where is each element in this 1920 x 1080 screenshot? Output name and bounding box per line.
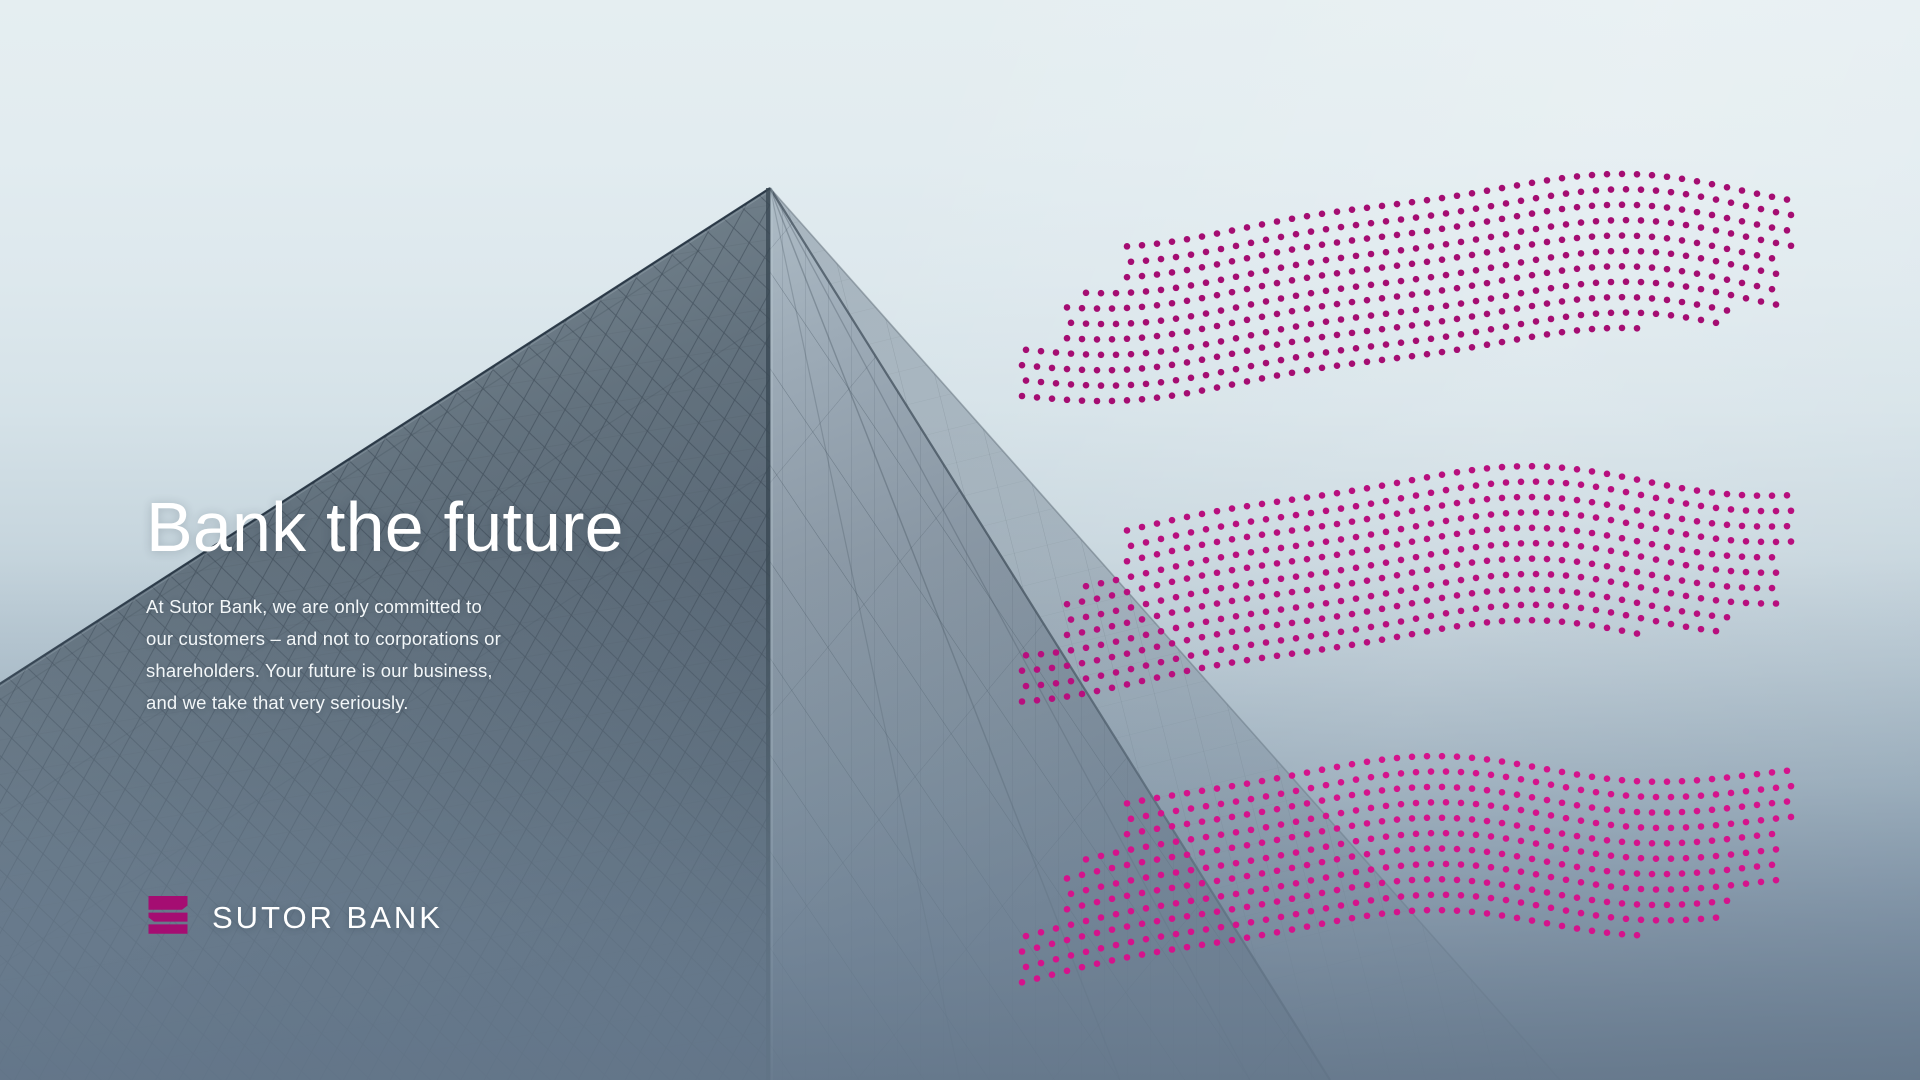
halftone-dot	[1158, 379, 1165, 386]
halftone-dot	[1304, 618, 1311, 625]
halftone-dot	[1668, 886, 1675, 893]
halftone-dot	[1289, 308, 1296, 315]
halftone-dot	[1469, 221, 1476, 228]
halftone-dot	[1319, 523, 1326, 530]
halftone-dot	[1608, 822, 1615, 829]
halftone-dot	[1649, 295, 1656, 302]
halftone-dot	[1274, 249, 1281, 256]
halftone-dot	[1713, 853, 1720, 860]
halftone-dot	[1308, 602, 1315, 609]
halftone-dot	[1578, 189, 1585, 196]
halftone-dot	[1593, 820, 1600, 827]
halftone-dot	[1679, 870, 1686, 877]
halftone-dot	[1634, 507, 1641, 514]
halftone-dot	[1398, 247, 1405, 254]
halftone-dot	[1068, 647, 1075, 654]
halftone-dot	[1319, 241, 1326, 248]
halftone-dot	[1784, 227, 1791, 234]
halftone-dot	[1589, 927, 1596, 934]
halftone-dot	[1353, 900, 1360, 907]
halftone-dot	[1274, 929, 1281, 936]
halftone-dot	[1233, 551, 1240, 558]
halftone-dot	[1244, 503, 1251, 510]
halftone-dot	[1323, 813, 1330, 820]
halftone-dot	[1379, 264, 1386, 271]
halftone-dot	[1503, 897, 1510, 904]
halftone-dot	[1184, 851, 1191, 858]
halftone-dot	[1199, 818, 1206, 825]
halftone-dot	[1049, 365, 1056, 372]
halftone-dot	[1139, 678, 1146, 685]
halftone-dot	[1484, 787, 1491, 794]
halftone-dot	[1248, 270, 1255, 277]
halftone-dot	[1409, 846, 1416, 853]
halftone-dot	[1068, 616, 1075, 623]
halftone-dot	[1473, 575, 1480, 582]
halftone-dot	[1473, 513, 1480, 520]
halftone-dot	[1383, 621, 1390, 628]
halftone-dot	[1604, 929, 1611, 936]
halftone-dot	[1229, 783, 1236, 790]
halftone-dot	[1604, 232, 1611, 239]
halftone-dot	[1308, 541, 1315, 548]
halftone-dot	[1229, 567, 1236, 574]
halftone-dot	[1199, 911, 1206, 918]
halftone-dot	[1563, 876, 1570, 883]
halftone-dot	[1184, 267, 1191, 274]
halftone-dot	[1608, 791, 1615, 798]
halftone-dot	[1469, 313, 1476, 320]
halftone-dot	[1349, 823, 1356, 830]
halftone-dot	[1083, 948, 1090, 955]
halftone-dot	[1364, 758, 1371, 765]
halftone-dot	[1713, 791, 1720, 798]
halftone-dot	[1394, 262, 1401, 269]
halftone-dot	[1274, 898, 1281, 905]
halftone-dot	[1439, 814, 1446, 821]
halftone-dot	[1439, 471, 1446, 478]
halftone-dot	[1413, 276, 1420, 283]
halftone-dot	[1649, 871, 1656, 878]
halftone-dot	[1199, 356, 1206, 363]
halftone-dot	[1728, 506, 1735, 513]
halftone-dot	[1574, 864, 1581, 871]
halftone-dot	[1304, 862, 1311, 869]
halftone-dot	[1094, 657, 1101, 664]
halftone-dot	[1544, 858, 1551, 865]
halftone-dot	[1068, 891, 1075, 898]
halftone-dot	[1398, 893, 1405, 900]
halftone-dot	[1034, 394, 1041, 401]
halftone-dot	[1214, 939, 1221, 946]
halftone-dot	[1514, 244, 1521, 251]
halftone-dot	[1289, 620, 1296, 627]
halftone-dot	[1499, 758, 1506, 765]
halftone-dot	[1469, 909, 1476, 916]
halftone-dot	[1428, 336, 1435, 343]
halftone-dot	[1608, 609, 1615, 616]
halftone-dot	[1244, 564, 1251, 571]
halftone-dot	[1578, 250, 1585, 257]
halftone-dot	[1473, 267, 1480, 274]
halftone-dot	[1308, 785, 1315, 792]
halftone-dot	[1259, 283, 1266, 290]
halftone-dot	[1394, 755, 1401, 762]
halftone-dot	[1139, 524, 1146, 531]
halftone-dot	[1169, 671, 1176, 678]
halftone-dot	[1289, 277, 1296, 284]
halftone-dot	[1668, 220, 1675, 227]
halftone-dot	[1214, 508, 1221, 515]
halftone-dot	[1169, 854, 1176, 861]
halftone-dot	[1458, 577, 1465, 584]
halftone-dot	[1439, 256, 1446, 263]
halftone-dot	[1368, 774, 1375, 781]
halftone-dot	[1619, 473, 1626, 480]
halftone-dot	[1199, 264, 1206, 271]
halftone-dot	[1518, 571, 1525, 578]
halftone-dot	[1593, 310, 1600, 317]
halftone-dot	[1533, 902, 1540, 909]
halftone-dot	[1728, 292, 1735, 299]
halftone-dot	[1304, 893, 1311, 900]
halftone-dot	[1184, 606, 1191, 613]
halftone-dot	[1214, 600, 1221, 607]
halftone-dot	[1379, 357, 1386, 364]
halftone-dot	[1754, 492, 1761, 499]
halftone-dot	[1368, 562, 1375, 569]
halftone-dot	[1278, 821, 1285, 828]
halftone-dot	[1743, 264, 1750, 271]
halftone-dot	[1638, 279, 1645, 286]
halftone-dot	[1293, 292, 1300, 299]
halftone-dot	[1514, 525, 1521, 532]
halftone-dot	[1544, 269, 1551, 276]
halftone-dot	[1623, 612, 1630, 619]
halftone-dot	[1304, 244, 1311, 251]
halftone-dot	[1413, 307, 1420, 314]
halftone-dot	[1353, 283, 1360, 290]
halftone-dot	[1263, 237, 1270, 244]
halftone-dot	[1199, 572, 1206, 579]
halftone-dot	[1518, 602, 1525, 609]
halftone-dot	[1469, 344, 1476, 351]
halftone-dot	[1094, 930, 1101, 937]
halftone-dot	[1499, 881, 1506, 888]
halftone-dot	[1278, 264, 1285, 271]
halftone-dot	[1109, 957, 1116, 964]
halftone-dot	[1743, 788, 1750, 795]
halftone-dot	[1728, 199, 1735, 206]
halftone-dot	[1353, 534, 1360, 541]
halftone-dot	[1593, 249, 1600, 256]
halftone-dot	[1529, 241, 1536, 248]
halftone-dot	[1589, 530, 1596, 537]
halftone-dot	[1739, 773, 1746, 780]
halftone-dot	[1394, 634, 1401, 641]
halftone-dot	[1679, 546, 1686, 553]
halftone-dot	[1338, 629, 1345, 636]
halftone-dot	[1109, 592, 1116, 599]
halftone-dot	[1638, 553, 1645, 560]
halftone-dot	[1454, 623, 1461, 630]
halftone-dot	[1653, 525, 1660, 532]
halftone-dot	[1623, 854, 1630, 861]
halftone-dot	[1439, 533, 1446, 540]
halftone-dot	[1334, 825, 1341, 832]
halftone-dot	[1334, 644, 1341, 651]
halftone-dot	[1424, 320, 1431, 327]
halftone-dot	[1458, 331, 1465, 338]
halftone-dot	[1454, 784, 1461, 791]
halftone-dot	[1668, 498, 1675, 505]
halftone-dot	[1649, 203, 1656, 210]
halftone-dot	[1098, 321, 1105, 328]
halftone-dot	[1773, 240, 1780, 247]
halftone-dot	[1214, 230, 1221, 237]
hero-banner: Bank the future At Sutor Bank, we are on…	[0, 0, 1920, 1080]
halftone-dot	[1289, 803, 1296, 810]
halftone-dot	[1413, 214, 1420, 221]
halftone-dot	[1334, 582, 1341, 589]
halftone-dot	[1619, 900, 1626, 907]
brand-logo[interactable]: SUTOR BANK	[146, 893, 443, 941]
halftone-dot	[1578, 848, 1585, 855]
halftone-dot	[1664, 809, 1671, 816]
halftone-dot	[1439, 784, 1446, 791]
halftone-dot	[1473, 862, 1480, 869]
halftone-dot	[1544, 463, 1551, 470]
halftone-dot	[1443, 891, 1450, 898]
halftone-dot	[1754, 585, 1761, 592]
halftone-dot	[1608, 548, 1615, 555]
halftone-dot	[1259, 501, 1266, 508]
halftone-dot	[1758, 817, 1765, 824]
halftone-dot	[1443, 487, 1450, 494]
halftone-dot	[1514, 213, 1521, 220]
halftone-dot	[1619, 597, 1626, 604]
halftone-dot	[1428, 274, 1435, 281]
halftone-dot	[1319, 334, 1326, 341]
halftone-dot	[1173, 931, 1180, 938]
halftone-dot	[1664, 902, 1671, 909]
halftone-dot	[1713, 289, 1720, 296]
halftone-dot	[1563, 190, 1570, 197]
halftone-dot	[1154, 520, 1161, 527]
halftone-dot	[1218, 585, 1225, 592]
halftone-dot	[1154, 795, 1161, 802]
halftone-dot	[1139, 647, 1146, 654]
halftone-dot	[1308, 816, 1315, 823]
halftone-dot	[1439, 195, 1446, 202]
halftone-dot	[1634, 870, 1641, 877]
halftone-dot	[1349, 518, 1356, 525]
halftone-dot	[1278, 234, 1285, 241]
halftone-dot	[1233, 860, 1240, 867]
halftone-dot	[1349, 761, 1356, 768]
halftone-dot	[1454, 346, 1461, 353]
halftone-dot	[1619, 808, 1626, 815]
halftone-dot	[1443, 303, 1450, 310]
halftone-dot	[1698, 885, 1705, 892]
halftone-dot	[1484, 311, 1491, 318]
halftone-dot	[1743, 569, 1750, 576]
halftone-dot	[1233, 798, 1240, 805]
halftone-dot	[1409, 353, 1416, 360]
halftone-dot	[1383, 498, 1390, 505]
halftone-dot	[1334, 918, 1341, 925]
halftone-dot	[1083, 351, 1090, 358]
halftone-dot	[1709, 273, 1716, 280]
halftone-dot	[1488, 604, 1495, 611]
halftone-dot	[1668, 312, 1675, 319]
halftone-dot	[1589, 773, 1596, 780]
halftone-dot	[1668, 528, 1675, 535]
halftone-dot	[1248, 919, 1255, 926]
halftone-dot	[1319, 585, 1326, 592]
halftone-dot	[1169, 238, 1176, 245]
halftone-dot	[1514, 853, 1521, 860]
halftone-dot	[1634, 263, 1641, 270]
halftone-dot	[1308, 321, 1315, 328]
halftone-dot	[1589, 264, 1596, 271]
halftone-dot	[1563, 511, 1570, 518]
halftone-dot	[1289, 650, 1296, 657]
halftone-dot	[1608, 279, 1615, 286]
halftone-dot	[1484, 341, 1491, 348]
halftone-dot	[1634, 932, 1641, 939]
halftone-dot	[1454, 223, 1461, 230]
halftone-dot	[1578, 219, 1585, 226]
halftone-dot	[1158, 348, 1165, 355]
halftone-dot	[1653, 495, 1660, 502]
halftone-dot	[1574, 235, 1581, 242]
halftone-dot	[1784, 196, 1791, 203]
halftone-dot	[1113, 321, 1120, 328]
halftone-dot	[1623, 550, 1630, 557]
halftone-dot	[1098, 914, 1105, 921]
halftone-dot	[1229, 628, 1236, 635]
halftone-dot	[1473, 893, 1480, 900]
halftone-dot	[1533, 318, 1540, 325]
halftone-dot	[1154, 856, 1161, 863]
halftone-dot	[1053, 956, 1060, 963]
halftone-dot	[1773, 539, 1780, 546]
halftone-dot	[1593, 607, 1600, 614]
halftone-dot	[1518, 290, 1525, 297]
halftone-dot	[1724, 614, 1731, 621]
halftone-dot	[1398, 770, 1405, 777]
halftone-dot	[1653, 311, 1660, 318]
halftone-dot	[1619, 777, 1626, 784]
halftone-dot	[1364, 547, 1371, 554]
halftone-dot	[1638, 793, 1645, 800]
halftone-dot	[1158, 659, 1165, 666]
halftone-dot	[1398, 495, 1405, 502]
halftone-dot	[1638, 248, 1645, 255]
halftone-dot	[1064, 906, 1071, 913]
halftone-dot	[1634, 294, 1641, 301]
halftone-dot	[1154, 271, 1161, 278]
halftone-dot	[1758, 848, 1765, 855]
halftone-dot	[1319, 646, 1326, 653]
halftone-dot	[1188, 344, 1195, 351]
halftone-dot	[1199, 233, 1206, 240]
halftone-dot	[1323, 288, 1330, 295]
halftone-dot	[1169, 331, 1176, 338]
halftone-dot	[1323, 508, 1330, 515]
halftone-dot	[1428, 892, 1435, 899]
halftone-dot	[1769, 800, 1776, 807]
halftone-dot	[1124, 366, 1131, 373]
halftone-dot	[1233, 304, 1240, 311]
halftone-dot	[1773, 784, 1780, 791]
halftone-dot	[1233, 829, 1240, 836]
halftone-dot	[1274, 218, 1281, 225]
halftone-dot	[1128, 604, 1135, 611]
halftone-dot	[1574, 589, 1581, 596]
halftone-dot	[1289, 895, 1296, 902]
halftone-dot	[1488, 203, 1495, 210]
halftone-dot	[1503, 262, 1510, 269]
halftone-dot	[1334, 856, 1341, 863]
halftone-dot	[1739, 553, 1746, 560]
halftone-dot	[1679, 577, 1686, 584]
halftone-dot	[1398, 309, 1405, 316]
halftone-dot	[1593, 576, 1600, 583]
halftone-dot	[1683, 191, 1690, 198]
halftone-dot	[1443, 768, 1450, 775]
halftone-dot	[1578, 481, 1585, 488]
halftone-dot	[1589, 622, 1596, 629]
halftone-dot	[1259, 314, 1266, 321]
halftone-dot	[1604, 625, 1611, 632]
halftone-dot	[1679, 516, 1686, 523]
halftone-dot	[1458, 515, 1465, 522]
halftone-dot	[1094, 595, 1101, 602]
halftone-dot	[1068, 678, 1075, 685]
halftone-dot	[1754, 863, 1761, 870]
halftone-dot	[1679, 485, 1686, 492]
halftone-dot	[1593, 545, 1600, 552]
halftone-dot	[1698, 286, 1705, 293]
halftone-dot	[1694, 808, 1701, 815]
halftone-dot	[1353, 565, 1360, 572]
halftone-dot	[1608, 248, 1615, 255]
halftone-dot	[1259, 593, 1266, 600]
halftone-dot	[1529, 463, 1536, 470]
halftone-dot	[1683, 562, 1690, 569]
halftone-dot	[1559, 526, 1566, 533]
halftone-dot	[1289, 589, 1296, 596]
halftone-dot	[1334, 270, 1341, 277]
halftone-dot	[1424, 536, 1431, 543]
halftone-dot	[1364, 328, 1371, 335]
halftone-dot	[1248, 796, 1255, 803]
halftone-dot	[1728, 790, 1735, 797]
halftone-dot	[1353, 222, 1360, 229]
halftone-dot	[1173, 808, 1180, 815]
halftone-dot	[1484, 879, 1491, 886]
halftone-dot	[1398, 863, 1405, 870]
halftone-dot	[1398, 557, 1405, 564]
halftone-dot	[1263, 329, 1270, 336]
halftone-dot	[1109, 926, 1116, 933]
halftone-dot	[1278, 545, 1285, 552]
halftone-dot	[1469, 559, 1476, 566]
halftone-dot	[1409, 291, 1416, 298]
halftone-dot	[1154, 887, 1161, 894]
